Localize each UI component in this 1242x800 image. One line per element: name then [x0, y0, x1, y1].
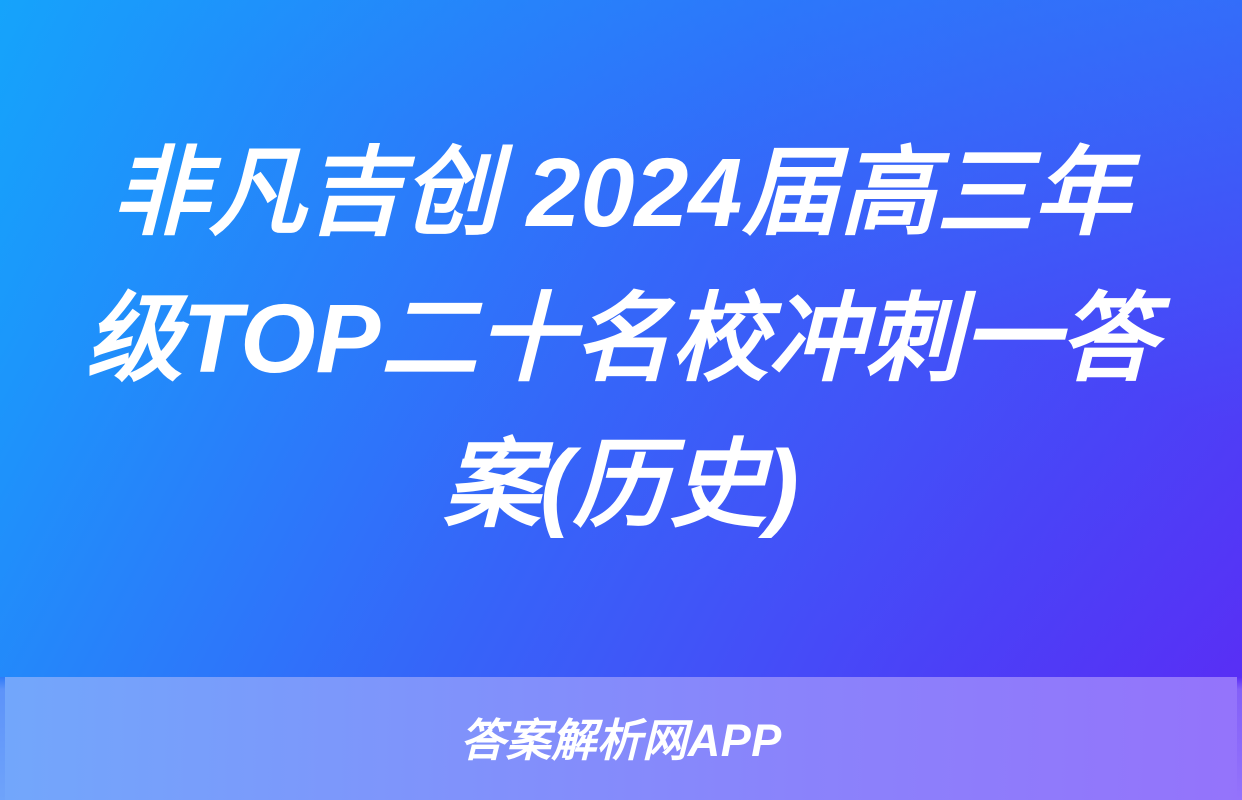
footer-watermark-band: 答案解析网APP: [0, 677, 1242, 800]
poster-container: 非凡吉创 2024届高三年 级TOP二十名校冲刺一答 案(历史) 答案解析网AP…: [0, 0, 1242, 800]
poster-title-line-2: 级TOP二十名校冲刺一答: [52, 266, 1190, 412]
poster-title-line-3: 案(历史): [52, 412, 1190, 558]
footer-watermark-text: 答案解析网APP: [460, 718, 782, 763]
band-edge-right: [1237, 677, 1242, 800]
poster-title-line-1: 非凡吉创 2024届高三年: [52, 120, 1190, 266]
band-edge-left: [0, 677, 5, 800]
poster-title-block: 非凡吉创 2024届高三年 级TOP二十名校冲刺一答 案(历史): [0, 0, 1242, 677]
